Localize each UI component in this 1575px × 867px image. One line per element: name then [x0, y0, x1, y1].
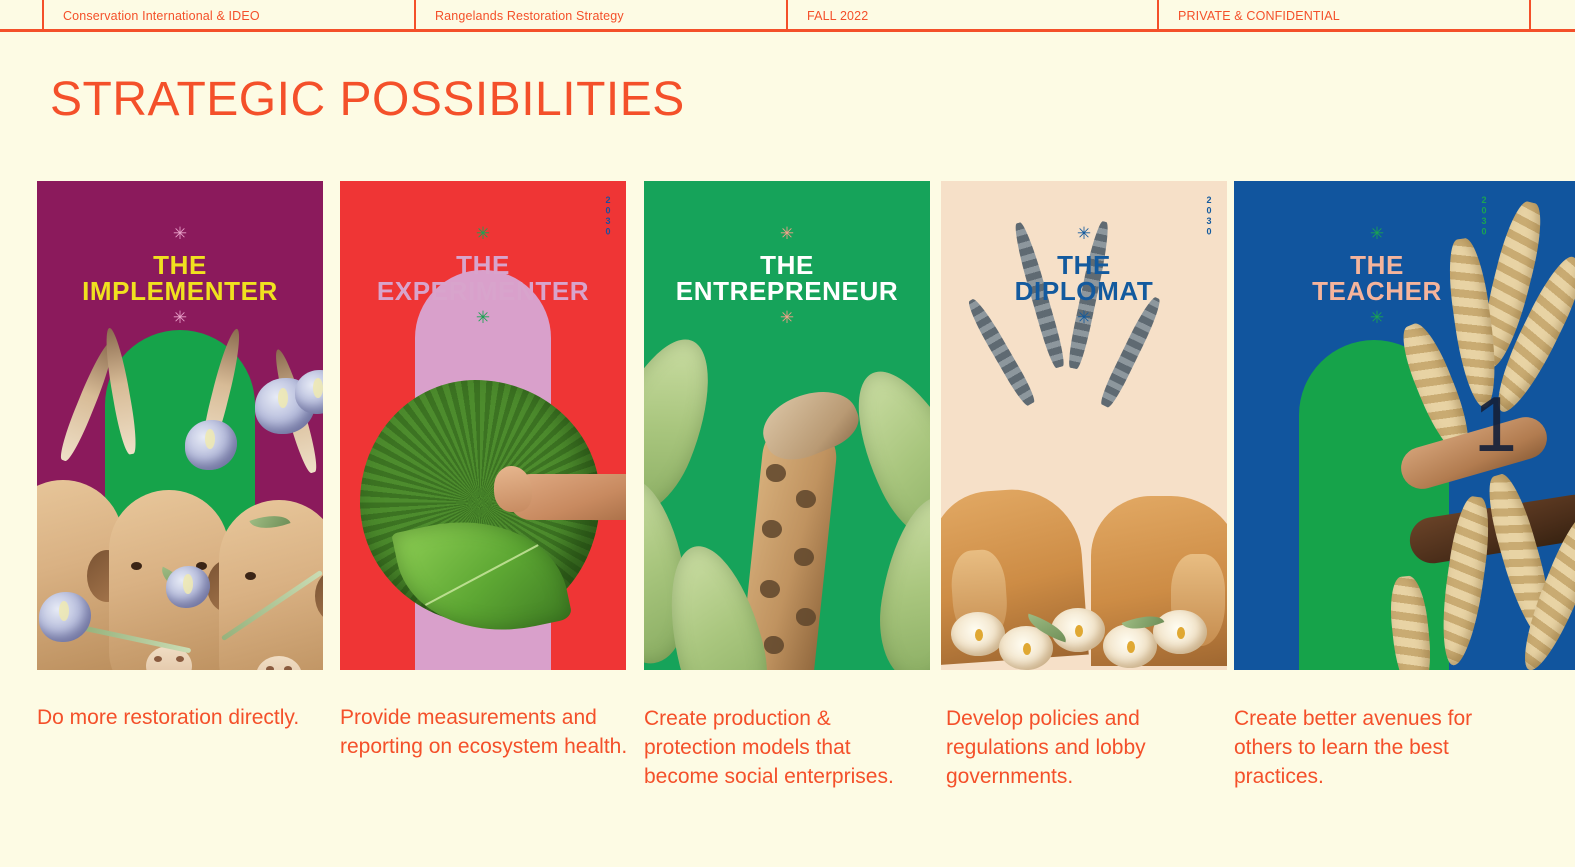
header-cell-confidentiality-label: PRIVATE & CONFIDENTIAL	[1178, 9, 1340, 23]
header-cell-project-label: Rangelands Restoration Strategy	[435, 9, 624, 23]
card-diplomat[interactable]: 2030 ✳ THE DIPLOMAT ✳	[941, 181, 1227, 670]
card-header-implementer: ✳ THE IMPLEMENTER ✳	[37, 181, 323, 327]
star-icon: ✳	[340, 229, 626, 243]
card-entrepreneur[interactable]: ✳ THE ENTREPRENEUR ✳	[644, 181, 930, 670]
card-title-diplomat: THE DIPLOMAT	[941, 243, 1227, 313]
star-icon: ✳	[644, 229, 930, 243]
impala-face-icon	[949, 548, 1009, 644]
page-title: STRATEGIC POSSIBILITIES	[50, 72, 685, 127]
star-icon: ✳	[340, 313, 626, 327]
cow-nostril-icon	[266, 666, 274, 670]
lily-flower-icon	[1153, 610, 1207, 654]
lily-flower-icon	[1103, 624, 1157, 668]
card-caption-entrepreneur: Create production & protection models th…	[644, 704, 939, 791]
leaf-icon	[653, 536, 781, 670]
star-icon: ✳	[941, 229, 1227, 243]
card-year-label-diplomat: 2030	[1203, 195, 1214, 237]
card-title-implementer: THE IMPLEMENTER	[37, 243, 323, 313]
star-icon: ✳	[644, 313, 930, 327]
card-implementer[interactable]: ✳ THE IMPLEMENTER ✳	[37, 181, 323, 670]
impala-face-icon	[1171, 554, 1225, 646]
leaf-icon	[1024, 614, 1071, 643]
card-numeral-teacher: 1	[1474, 379, 1517, 470]
giraffe-head-icon	[754, 378, 865, 470]
lily-flower-icon	[1051, 608, 1105, 652]
card-title-teacher: THE TEACHER	[1234, 243, 1520, 313]
card-caption-teacher: Create better avenues for others to lear…	[1234, 704, 1524, 791]
star-icon: ✳	[941, 313, 1227, 327]
giraffe-spot-icon	[794, 548, 814, 566]
giraffe-spot-icon	[764, 636, 784, 654]
blue-flower-icon	[255, 378, 315, 434]
star-icon: ✳	[37, 229, 323, 243]
header-cell-confidentiality: PRIVATE & CONFIDENTIAL	[1159, 0, 1531, 32]
card-caption-diplomat: Develop policies and regulations and lob…	[946, 704, 1221, 791]
cow-nostril-icon	[284, 666, 292, 670]
header-cell-date-label: FALL 2022	[807, 9, 868, 23]
leaf-icon	[1122, 608, 1165, 637]
lily-flower-icon	[999, 626, 1053, 670]
leaf-icon	[644, 473, 697, 669]
card-year-label-experimenter: 2030	[602, 195, 613, 237]
lily-flower-icon	[951, 612, 1005, 656]
card-header-experimenter: ✳ THE EXPERIMENTER ✳	[340, 181, 626, 327]
cow-ear-icon	[315, 570, 323, 622]
leaf-icon	[644, 325, 732, 530]
star-icon: ✳	[1234, 313, 1520, 327]
blue-flower-icon	[39, 592, 91, 642]
giraffe-spot-icon	[796, 608, 816, 626]
card-title-experimenter: THE EXPERIMENTER	[340, 243, 626, 313]
giraffe-spot-icon	[766, 464, 786, 482]
card-experimenter[interactable]: 2030 ✳ THE EXPERIMENTER ✳	[340, 181, 626, 670]
card-header-teacher: ✳ THE TEACHER ✳	[1234, 181, 1575, 327]
cow-snout-icon	[256, 656, 302, 670]
card-caption-implementer: Do more restoration directly.	[37, 703, 327, 732]
card-header-entrepreneur: ✳ THE ENTREPRENEUR ✳	[644, 181, 930, 327]
arch-shape-implementer	[105, 330, 255, 670]
impala-figure	[941, 485, 1089, 665]
giraffe-neck-icon	[738, 417, 840, 670]
wheat-stalk-icon	[1480, 470, 1561, 643]
giraffe-spot-icon	[796, 490, 816, 508]
header-bar: Conservation International & IDEO Rangel…	[0, 0, 1575, 32]
header-right-spacer	[1531, 0, 1575, 32]
leaf-icon	[249, 508, 290, 536]
arch-shape-teacher	[1299, 340, 1449, 670]
header-cell-project: Rangelands Restoration Strategy	[416, 0, 788, 32]
leaf-icon	[834, 355, 930, 560]
giraffe-spot-icon	[762, 520, 782, 538]
card-title-entrepreneur: THE ENTREPRENEUR	[644, 243, 930, 313]
cow-horn-icon	[270, 347, 322, 475]
blue-flower-icon	[295, 370, 323, 414]
header-cell-date: FALL 2022	[788, 0, 1159, 32]
impala-figure	[1091, 496, 1227, 666]
header-cell-client: Conservation International & IDEO	[44, 0, 416, 32]
giraffe-spot-icon	[760, 580, 780, 598]
card-header-diplomat: ✳ THE DIPLOMAT ✳	[941, 181, 1227, 327]
card-year-label-teacher: 2030	[1478, 195, 1489, 237]
header-cell-client-label: Conservation International & IDEO	[63, 9, 260, 23]
leaf-icon	[870, 490, 930, 670]
header-left-spacer	[0, 0, 44, 32]
card-caption-experimenter: Provide measurements and reporting on ec…	[340, 703, 632, 761]
star-icon: ✳	[37, 313, 323, 327]
card-teacher[interactable]: 2030 1 ✳ THE TEACHER ✳	[1234, 181, 1575, 670]
wheat-stalk-icon	[1512, 505, 1575, 670]
arch-shape-experimenter	[415, 270, 551, 670]
